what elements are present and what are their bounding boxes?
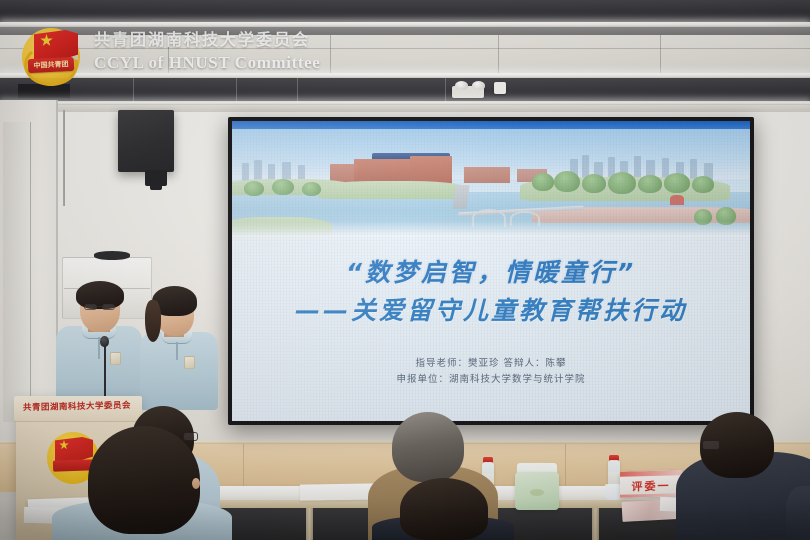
- photo-tree: [608, 172, 636, 194]
- skyline-tower: [254, 160, 262, 181]
- paper-cup: [605, 484, 620, 500]
- photo-tree: [244, 181, 264, 196]
- ceiling-seam: [498, 35, 499, 73]
- photo-building-far: [464, 167, 510, 183]
- ceiling-sensor: [494, 82, 506, 94]
- slide-subtitle: ——关爱留守儿童教育帮扶行动: [232, 291, 750, 327]
- judge-name-placard: 评委一: [620, 470, 682, 498]
- table-leg: [592, 508, 599, 540]
- photo-tree: [664, 173, 690, 193]
- ceiling-light-strip-3: [0, 101, 810, 105]
- projection-screen: “数梦启智，情暖童行” ——关爱留守儿童教育帮扶行动 指导老师：樊亚珍 答辩人：…: [232, 121, 750, 421]
- ceiling-tiles: [0, 35, 810, 73]
- audience-head-gray: [392, 412, 464, 482]
- photo-tree: [302, 182, 321, 196]
- photo-tree: [638, 175, 662, 193]
- campus-panorama-photo: [232, 129, 750, 237]
- audience-glasses: [183, 432, 198, 441]
- presenter-female-badge: [184, 356, 195, 369]
- photo-tree: [272, 179, 294, 195]
- slide-text-area: “数梦启智，情暖童行” ——关爱留守儿童教育帮扶行动 指导老师：樊亚珍 答辩人：…: [232, 237, 750, 421]
- judge-placard-text: 评委一: [620, 477, 682, 495]
- water-bottle-label: [608, 472, 620, 484]
- presenter-male-glasses: [102, 304, 115, 310]
- wainscot-seam: [565, 444, 566, 492]
- ceiling-mount-rod: [63, 110, 65, 206]
- emblem-ribbon: [53, 459, 93, 471]
- emblem-flag: [55, 437, 93, 461]
- presenter-male-hair: [76, 281, 124, 309]
- ceiling-seam: [660, 35, 661, 73]
- presenter-female-placket: [176, 342, 178, 360]
- tissue-box-emblem: [530, 489, 544, 496]
- ceiling-seam: [133, 78, 134, 102]
- placard-top-stripe: [620, 470, 682, 477]
- ceiling-seam: [297, 78, 298, 102]
- audience-shoulders-navy: [786, 486, 810, 540]
- presenter-male-badge: [110, 352, 121, 365]
- slide-credit-department: 申报单位：湖南科技大学数学与统计学院: [232, 371, 750, 385]
- ceiling-band-upper: [0, 0, 810, 22]
- ceiling-band-mid: [0, 27, 810, 35]
- photo-tree: [532, 173, 554, 191]
- audience-glasses: [702, 440, 720, 450]
- microphone-icon: [100, 336, 109, 347]
- slide-credit-advisor: 指导老师：樊亚珍 答辩人：陈攀: [232, 355, 750, 369]
- photo-shoreline: [318, 181, 468, 199]
- speaker-mount-foot: [150, 184, 162, 190]
- ceiling-tile-seam: [0, 48, 810, 49]
- ceiling-seam: [168, 35, 169, 73]
- presenter-male-glasses: [84, 304, 97, 310]
- skyline-tower: [242, 163, 249, 181]
- presentation-room-photo: “数梦启智，情暖童行” ——关爱留守儿童教育帮扶行动 指导老师：樊亚珍 答辩人：…: [0, 0, 810, 540]
- audience-ear: [192, 478, 200, 489]
- photo-tree: [582, 174, 606, 193]
- ceiling-seam: [236, 78, 237, 102]
- hanging-speaker: [118, 110, 174, 172]
- audience-head: [88, 426, 200, 534]
- photo-tree: [692, 176, 714, 193]
- table-leg: [306, 508, 313, 540]
- audience-head: [400, 478, 488, 540]
- table-paper: [300, 483, 376, 500]
- ceiling-speaker-dome: [472, 81, 485, 90]
- photo-tree: [554, 171, 580, 192]
- ceiling-vent: [18, 84, 70, 98]
- presenter-female-ponytail: [145, 300, 161, 342]
- presenter-male-glasses-bridge: [97, 306, 102, 307]
- ceiling-speaker-dome: [455, 81, 468, 90]
- photo-bottom-fade: [232, 221, 750, 237]
- door-frame: [3, 122, 31, 422]
- cabinet-top-object: [94, 251, 130, 260]
- wainscot-seam: [243, 444, 244, 492]
- ceiling-seam: [445, 78, 446, 102]
- ceiling-band-lower: [0, 78, 810, 102]
- slide-title: “数梦启智，情暖童行”: [232, 253, 750, 289]
- podium-banner-text: 共青团湖南科技大学委员会: [16, 399, 138, 414]
- ceiling-seam: [330, 35, 331, 73]
- photo-pavilion: [670, 195, 684, 205]
